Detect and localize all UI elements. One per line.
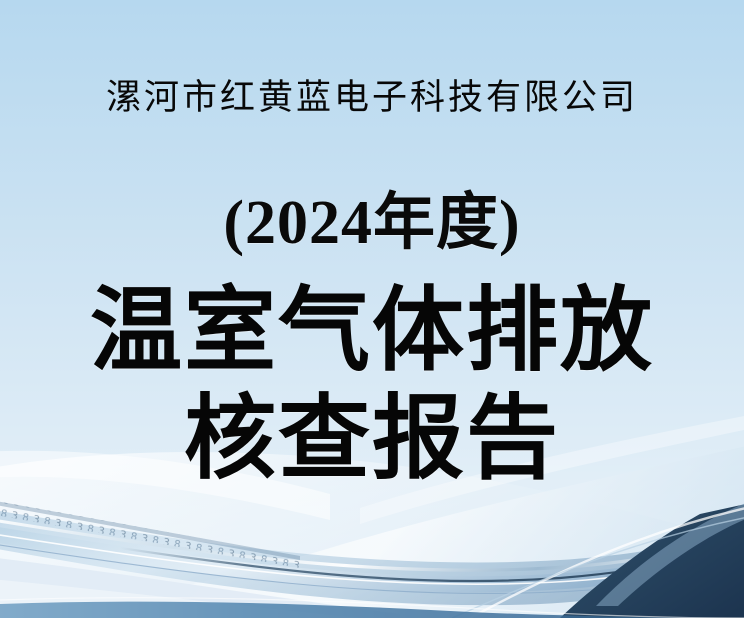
cover-text-stack: 漯河市红黄蓝电子科技有限公司 (2024年度) 温室气体排放 核查报告 [0, 0, 744, 618]
report-cover-page: 8 3 [0, 0, 744, 618]
page-title: 温室气体排放 核查报告 [0, 281, 744, 489]
reporting-period: (2024年度) [0, 186, 744, 260]
page-title-line-1: 温室气体排放 [0, 281, 744, 381]
page-title-line-2: 核查报告 [0, 389, 744, 489]
company-name: 漯河市红黄蓝电子科技有限公司 [0, 76, 744, 120]
